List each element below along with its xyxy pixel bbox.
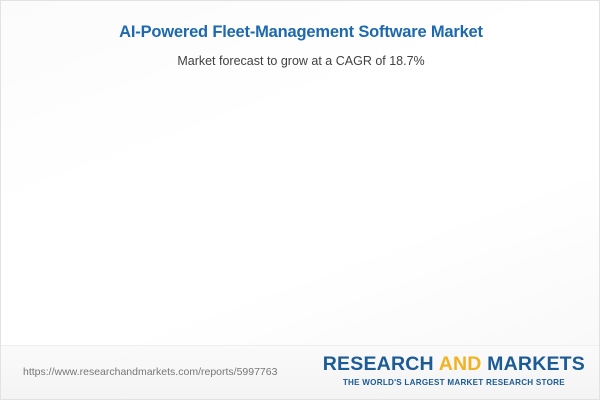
source-url[interactable]: https://www.researchandmarkets.com/repor… — [23, 366, 277, 378]
chart-plot-area: USD 5.2 Billion 2024 USD 14.4 Billion — [1, 1, 600, 346]
infographic-footer: https://www.researchandmarkets.com/repor… — [1, 345, 600, 399]
brand-name-markets: MARKETS — [482, 353, 585, 375]
brand-name: RESEARCH AND MARKETS — [323, 355, 585, 375]
brand-name-research: RESEARCH — [323, 353, 439, 375]
brand-name-and: AND — [439, 353, 482, 375]
brand-logo: RESEARCH AND MARKETS THE WORLD'S LARGEST… — [323, 355, 585, 387]
brand-tagline: THE WORLD'S LARGEST MARKET RESEARCH STOR… — [323, 379, 585, 387]
market-forecast-infographic: AI-Powered Fleet-Management Software Mar… — [0, 0, 600, 400]
